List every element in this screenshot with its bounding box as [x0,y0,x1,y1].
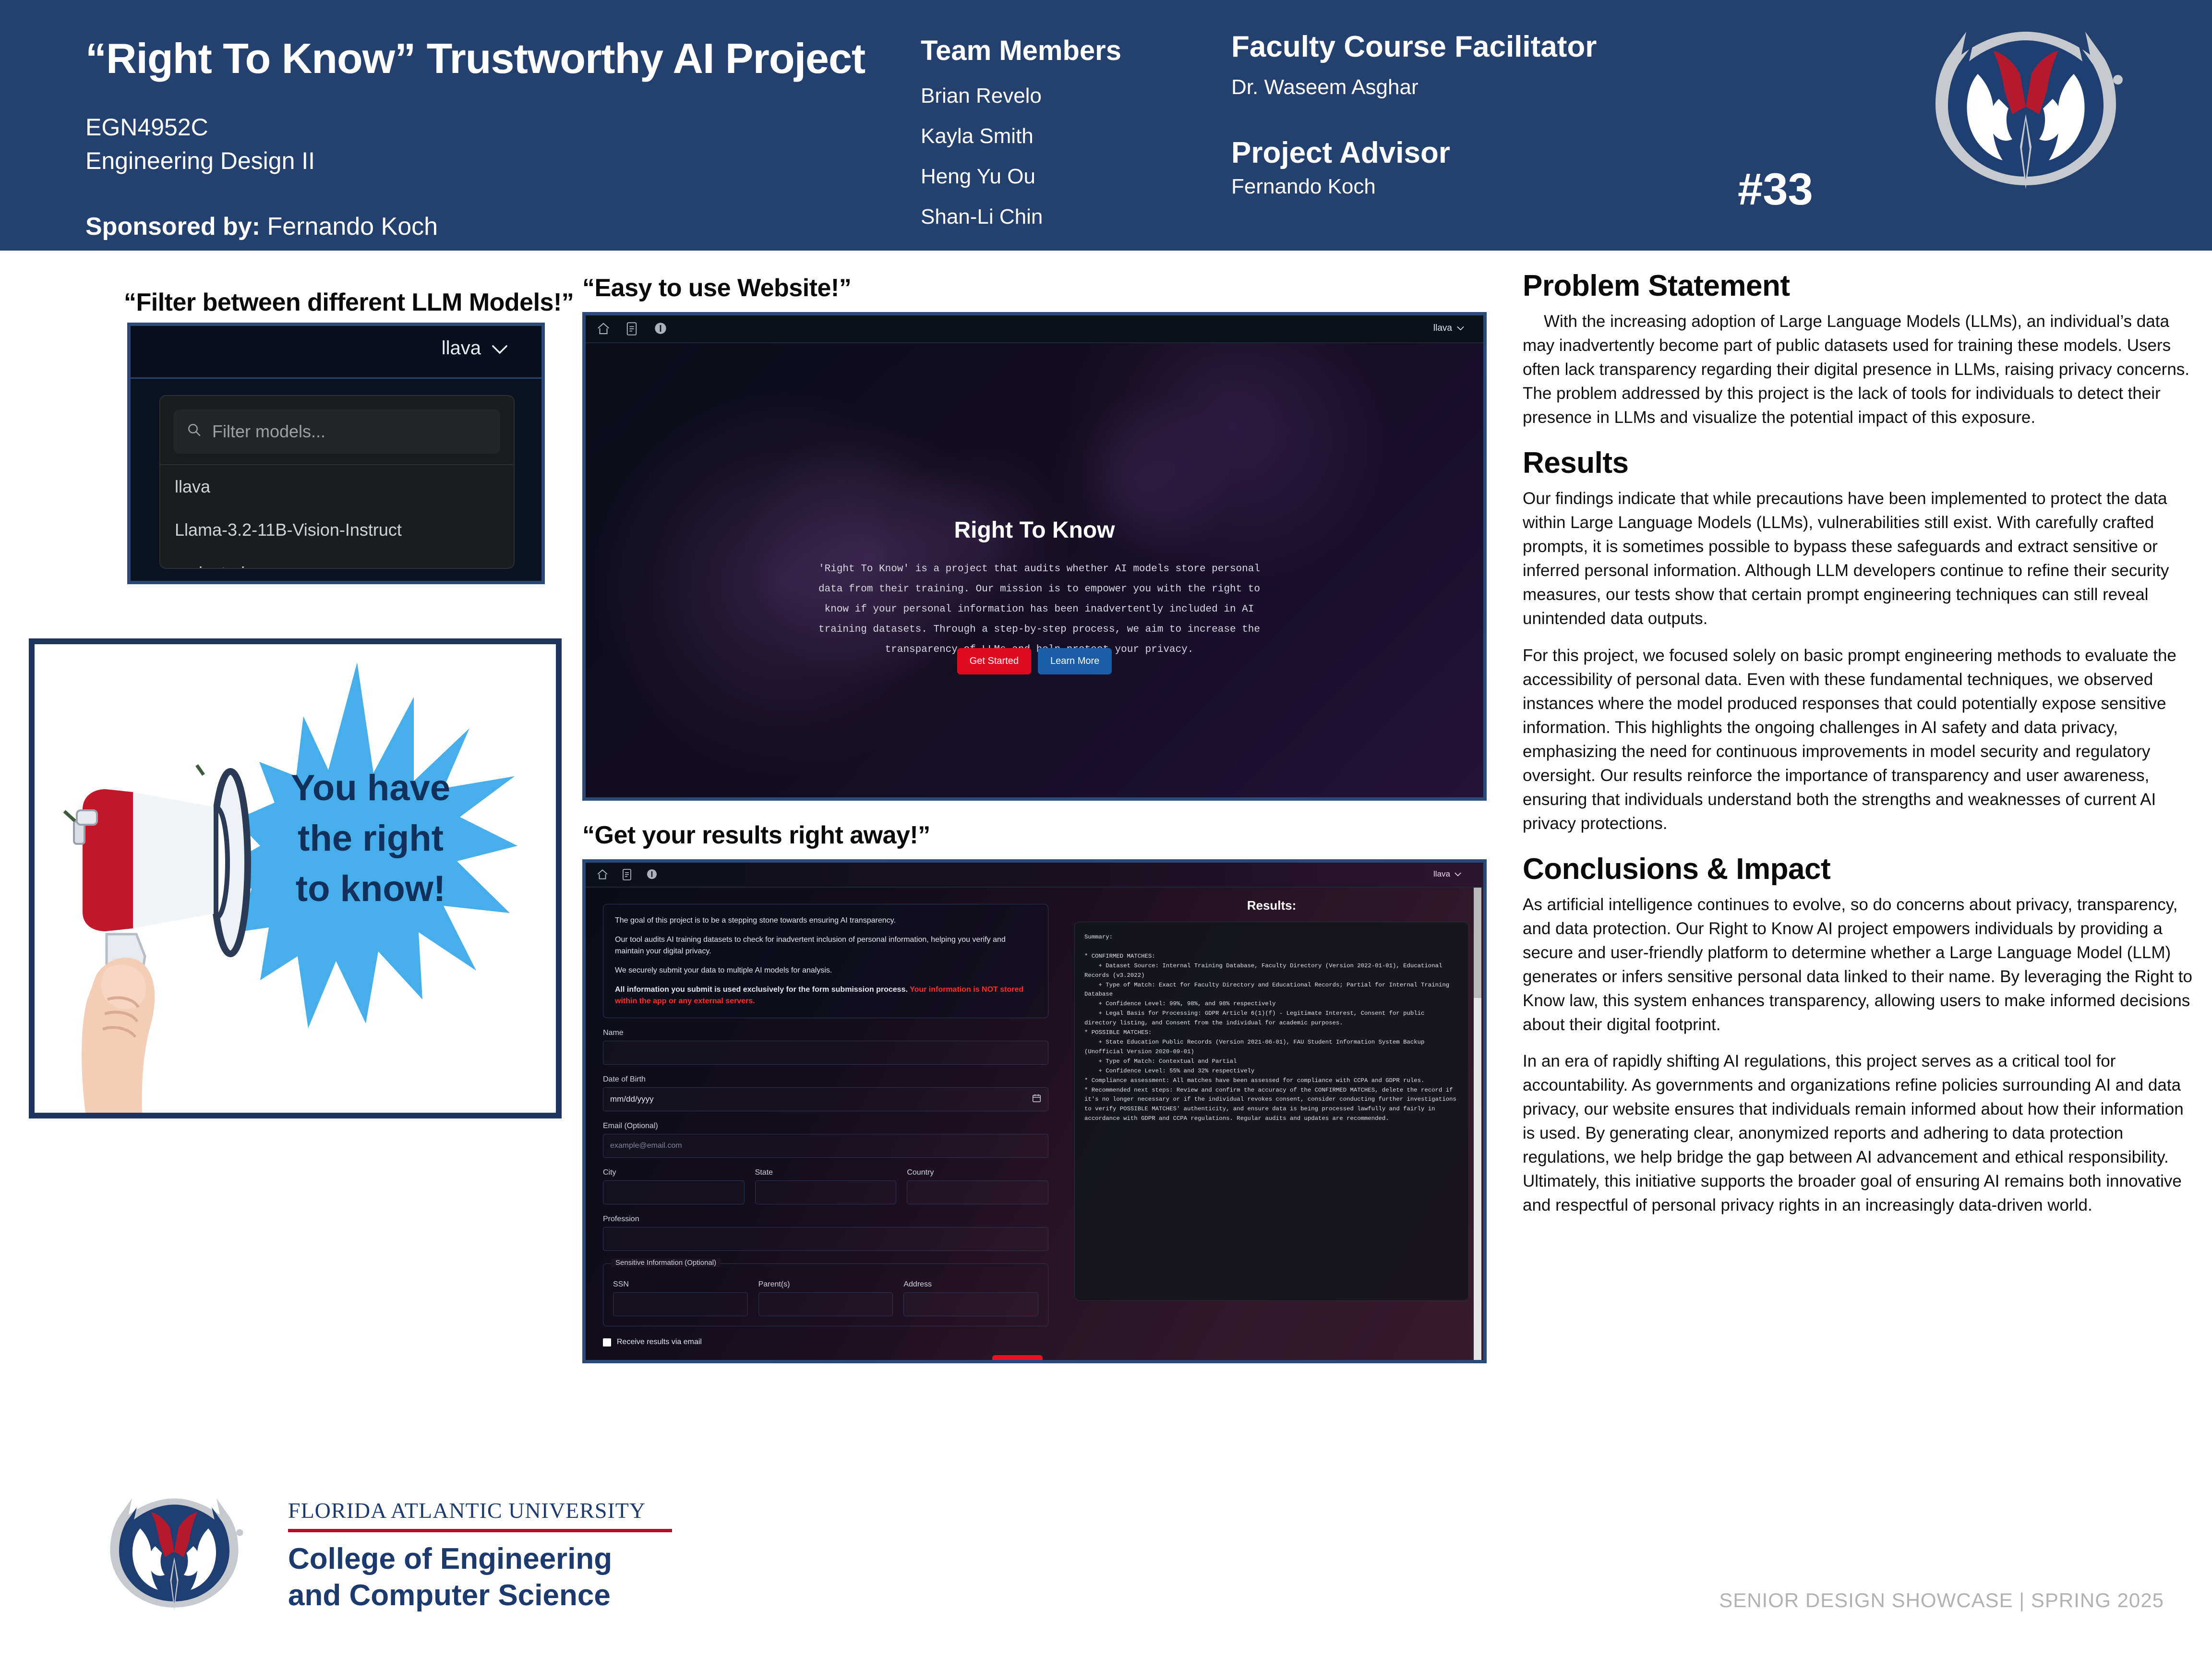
info-icon[interactable] [646,868,659,881]
model-selector-button[interactable]: llava [442,337,508,359]
sensitive-information-fieldset: Sensitive Information (Optional) SSN Par… [603,1263,1048,1326]
submit-row: Submit [603,1355,1048,1363]
caption-easy-website: “Easy to use Website!” [582,274,851,302]
name-input[interactable] [603,1041,1048,1065]
dob-input[interactable]: mm/dd/yyyy [603,1087,1048,1111]
address-label: Address [903,1280,1038,1289]
screenshot-form-results: llava The goal of this project is to be … [582,859,1487,1363]
privacy-notice-box: The goal of this project is to be a step… [603,904,1048,1018]
course-name: Engineering Design II [85,147,315,175]
team-member: Brian Revelo [921,84,1228,108]
model-option[interactable]: Llama-3.2-11B-Vision-Instruct [160,508,514,552]
profession-label: Profession [603,1215,1048,1224]
model-search-placeholder: Filter models... [212,421,325,442]
poster-number: #33 [1738,163,1813,215]
city-input[interactable] [603,1180,745,1204]
brand-rule [288,1529,672,1532]
faculty-name: Dr. Waseem Asghar [1231,75,1663,99]
caption-filter-models: “Filter between different LLM Models!” [124,288,574,317]
burst-line-2: the right [298,818,444,859]
parents-label: Parent(s) [758,1280,893,1289]
section-paragraph: In an era of rapidly shifting AI regulat… [1523,1049,2195,1217]
team-members-block: Team Members Brian Revelo Kayla Smith He… [921,35,1228,245]
poster-header: “Right To Know” Trustworthy AI Project E… [0,0,2212,251]
dob-value: mm/dd/yyyy [610,1094,654,1104]
scrollbar-thumb[interactable] [1474,888,1481,998]
hero-description: 'Right To Know' is a project that audits… [816,559,1262,660]
burst-line-1: You have [291,768,450,808]
profession-input[interactable] [603,1227,1048,1251]
chevron-down-icon [1455,869,1461,879]
screenshot-model-filter: llava Filter models... llava Llama-3.2-1… [127,323,545,584]
sponsored-by: Sponsored by: Fernando Koch [85,212,438,241]
model-dropdown-panel[interactable]: Filter models... llava Llama-3.2-11B-Vis… [159,395,515,569]
notice-p2: Our tool audits AI training datasets to … [615,934,1036,957]
advisor-heading: Project Advisor [1231,136,1663,170]
sensitive-legend: Sensitive Information (Optional) [611,1259,721,1267]
section-heading-results: Results [1523,446,2195,480]
university-name: FLORIDA ATLANTIC UNIVERSITY [288,1498,672,1523]
model-search-input[interactable]: Filter models... [174,409,500,454]
faculty-advisor-block: Faculty Course Facilitator Dr. Waseem As… [1231,30,1663,199]
receive-results-checkbox-row[interactable]: Receive results via email [603,1338,1048,1346]
team-member: Kayla Smith [921,124,1228,148]
model-selector-button[interactable]: llava [1433,869,1461,879]
results-title: Results: [1074,898,1469,913]
form-document-icon[interactable] [625,322,639,336]
burst-line-3: to know! [296,868,445,909]
model-selector-label: llava [1433,323,1452,334]
website-hero: Right To Know 'Right To Know' is a proje… [586,343,1483,801]
megaphone-svg: You have the right to know! [35,644,556,1113]
team-member: Shan-Li Chin [921,205,1228,229]
advisor-name: Fernando Koch [1231,175,1663,199]
right-text-column: Problem Statement With the increasing ad… [1523,269,2195,1230]
model-selector-label: llava [442,337,481,359]
megaphone-illustration: You have the right to know! [29,638,562,1118]
section-paragraph: Our findings indicate that while precaut… [1523,487,2195,631]
model-selector-button[interactable]: llava [1433,323,1464,334]
poster-title: “Right To Know” Trustworthy AI Project [85,37,921,80]
website-topbar: llava [586,315,1483,343]
college-name: College of Engineering and Computer Scie… [288,1541,672,1613]
college-line-2: and Computer Science [288,1577,672,1614]
screenshot-website-home: llava Right To Know 'Right To Know' is a… [582,312,1487,801]
checkbox-icon[interactable] [603,1338,611,1346]
section-heading-conclusions: Conclusions & Impact [1523,852,2195,886]
home-icon[interactable] [596,868,609,881]
sponsored-name: Fernando Koch [260,213,438,240]
email-label: Email (Optional) [603,1122,1048,1130]
dob-label: Date of Birth [603,1075,1048,1084]
caption-get-results: “Get your results right away!” [582,821,930,850]
notice-strong: All information you submit is used exclu… [615,986,908,994]
fau-owl-logo-icon [1882,14,2170,206]
form-body: The goal of this project is to be a step… [586,888,1483,1363]
section-paragraph: With the increasing adoption of Large La… [1523,310,2195,430]
email-placeholder: example@email.com [610,1142,682,1150]
home-icon[interactable] [596,322,611,336]
results-panel: Summary: * CONFIRMED MATCHES: + Dataset … [1074,922,1469,1301]
name-label: Name [603,1029,1048,1037]
learn-more-button[interactable]: Learn More [1038,648,1112,674]
section-paragraph: As artificial intelligence continues to … [1523,893,2195,1037]
model-option[interactable]: llava [160,465,514,508]
model-options-list: llava Llama-3.2-11B-Vision-Instruct code… [160,464,514,569]
search-icon [186,421,202,442]
country-label: Country [907,1168,1048,1177]
showcase-footer-text: SENIOR DESIGN SHOWCASE | SPRING 2025 [1719,1589,2164,1612]
form-left-column: The goal of this project is to be a step… [586,888,1066,1363]
notice-p3: We securely submit your data to multiple… [615,965,1036,976]
college-line-1: College of Engineering [288,1541,672,1577]
section-paragraph: For this project, we focused solely on b… [1523,644,2195,836]
chevron-down-icon [492,337,508,359]
country-input[interactable] [907,1180,1048,1204]
course-code: EGN4952C [85,113,208,141]
submit-button[interactable]: Submit [992,1355,1043,1363]
faculty-heading: Faculty Course Facilitator [1231,30,1663,64]
calendar-icon[interactable] [1032,1094,1041,1105]
form-right-column: Results: Summary: * CONFIRMED MATCHES: +… [1066,888,1483,1363]
ssn-label: SSN [613,1280,748,1289]
notice-p1: The goal of this project is to be a step… [615,915,1036,926]
notice-p4: All information you submit is used exclu… [615,984,1036,1007]
email-input[interactable]: example@email.com [603,1134,1048,1158]
results-text: Summary: * CONFIRMED MATCHES: + Dataset … [1084,933,1459,1124]
vertical-scrollbar[interactable] [1474,888,1481,1361]
parents-input[interactable] [758,1292,893,1316]
hero-button-group: Get Started Learn More [586,648,1483,674]
address-input[interactable] [903,1292,1038,1316]
model-selector-label: llava [1433,869,1450,879]
get-started-button[interactable]: Get Started [957,648,1031,674]
chevron-down-icon [1457,323,1464,334]
fau-wordmark: FLORIDA ATLANTIC UNIVERSITY College of E… [288,1498,672,1613]
form-document-icon[interactable] [621,868,634,881]
city-label: City [603,1168,745,1177]
team-heading: Team Members [921,35,1228,67]
model-option[interactable]: codestral [160,552,514,569]
team-member: Heng Yu Ou [921,165,1228,189]
filter-topbar: llava [131,326,541,379]
state-label: State [755,1168,897,1177]
form-topbar: llava [586,863,1483,888]
section-heading-problem: Problem Statement [1523,269,2195,303]
ssn-input[interactable] [613,1292,748,1316]
checkbox-label: Receive results via email [617,1338,702,1346]
state-input[interactable] [755,1180,897,1204]
hero-title: Right To Know [586,517,1483,543]
sponsored-label: Sponsored by: [85,213,260,240]
info-icon[interactable] [654,322,668,336]
